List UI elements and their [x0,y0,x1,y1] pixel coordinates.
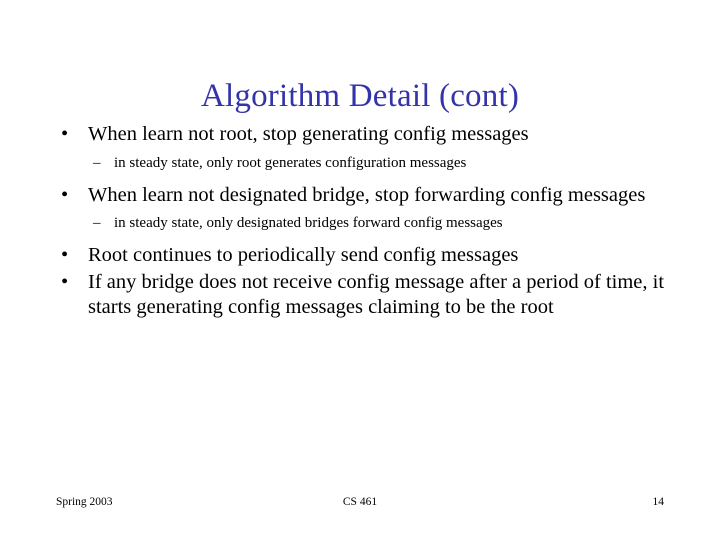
page-title: Algorithm Detail (cont) [0,76,720,116]
bullet-icon: • [61,243,68,269]
slide-body: • When learn not root, stop generating c… [56,122,671,322]
footer-course: CS 461 [56,494,664,510]
list-item: – in steady state, only designated bridg… [56,214,671,233]
list-item-label: If any bridge does not receive config me… [88,270,671,321]
list-item: • Root continues to periodically send co… [56,243,671,269]
dash-bullet-icon: – [93,154,101,173]
bullet-icon: • [61,183,68,209]
slide-footer: Spring 2003 CS 461 14 [56,494,664,510]
slide: Algorithm Detail (cont) • When learn not… [0,0,720,540]
bullet-icon: • [61,270,68,296]
slide-number: 14 [653,494,665,510]
dash-bullet-icon: – [93,214,101,233]
bullet-icon: • [61,122,68,148]
list-item-label: in steady state, only designated bridges… [114,214,671,233]
list-item-label: When learn not designated bridge, stop f… [88,183,671,209]
list-item: • When learn not root, stop generating c… [56,122,671,148]
list-item-label: Root continues to periodically send conf… [88,243,671,269]
list-item: – in steady state, only root generates c… [56,154,671,173]
list-item-label: in steady state, only root generates con… [114,154,671,173]
list-item-label: When learn not root, stop generating con… [88,122,671,148]
list-item: • If any bridge does not receive config … [56,270,671,321]
list-item: • When learn not designated bridge, stop… [56,183,671,209]
